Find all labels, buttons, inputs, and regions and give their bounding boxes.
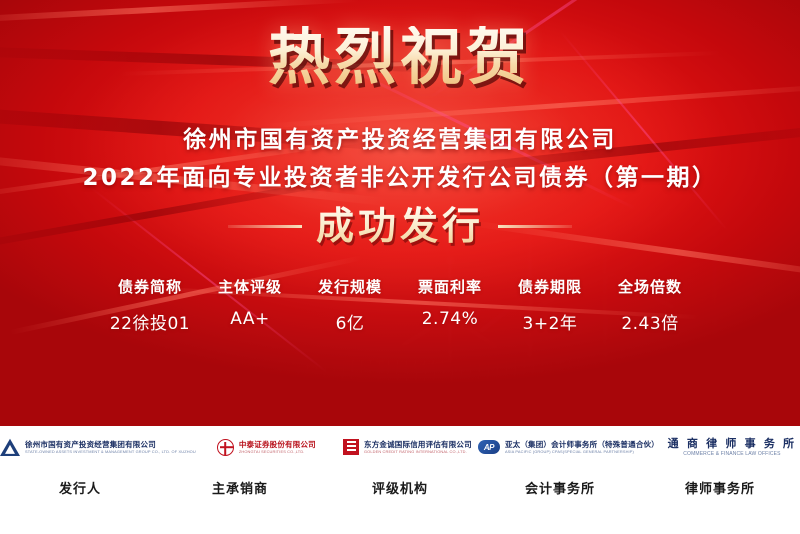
bond-stats-table: 债券简称 主体评级 发行规模 票面利率 债券期限 全场倍数 22徐投01 AA+… (100, 276, 700, 334)
partner-logo-accounting-firm: AP 亚太（集团）会计师事务所（特殊普通合伙） Asia Pacific (Gr… (478, 434, 659, 460)
partner-logo-law-firm: 通 商 律 师 事 务 所 Commerce & Finance Law Off… (659, 434, 800, 460)
success-label: 成功发行 (316, 206, 484, 248)
role-cell: 主承销商 (160, 478, 320, 498)
partner-name-cn: 通 商 律 师 事 务 所 (668, 437, 797, 451)
partner-role-label: 评级机构 (372, 482, 428, 497)
ap-badge-icon: AP (478, 440, 500, 454)
role-cell: 评级机构 (320, 478, 480, 498)
stat-header: 发行规模 (300, 276, 400, 297)
stat-value: AA+ (200, 309, 300, 334)
partner-name-cn: 东方金诚国际信用评估有限公司 (364, 440, 472, 449)
partner-role-label: 主承销商 (212, 482, 268, 497)
partner-logo-underwriter: 中泰证券股份有限公司 ZHONGTAI SECURITIES CO.,LTD. (196, 434, 337, 460)
bond-description: 2022年面向专业投资者非公开发行公司债券（第一期） (0, 158, 800, 192)
celebration-poster: 热烈祝贺 徐州市国有资产投资经营集团有限公司 2022年面向专业投资者非公开发行… (0, 0, 800, 534)
issuer-name: 徐州市国有资产投资经营集团有限公司 (0, 120, 800, 154)
role-cell: 发行人 (0, 478, 160, 498)
partner-name-en: State-owned Assets Investment & Manageme… (25, 449, 196, 454)
rule-right-icon (498, 225, 572, 228)
stat-value: 2.74% (400, 309, 500, 334)
stat-header: 主体评级 (200, 276, 300, 297)
stat-value: 3+2年 (500, 309, 600, 334)
stat-header: 债券期限 (500, 276, 600, 297)
hero-banner: 热烈祝贺 徐州市国有资产投资经营集团有限公司 2022年面向专业投资者非公开发行… (0, 0, 800, 426)
partner-name-en: GOLDEN CREDIT RATING INTERNATIONAL CO.,L… (364, 449, 472, 454)
hero-text-block: 热烈祝贺 徐州市国有资产投资经营集团有限公司 2022年面向专业投资者非公开发行… (0, 0, 800, 426)
partner-logo-row: 徐州市国有资产投资经营集团有限公司 State-owned Assets Inv… (0, 434, 800, 460)
partner-name-cn: 徐州市国有资产投资经营集团有限公司 (25, 440, 196, 449)
partner-role-label: 律师事务所 (685, 482, 755, 497)
red-book-icon (343, 439, 359, 455)
role-cell: 会计事务所 (480, 478, 640, 498)
partner-logo-issuer: 徐州市国有资产投资经营集团有限公司 State-owned Assets Inv… (0, 434, 196, 460)
partner-name-en: Asia Pacific (Group) CPAs(Special Genera… (505, 449, 659, 454)
success-banner: 成功发行 (0, 206, 800, 248)
partner-name-en: ZHONGTAI SECURITIES CO.,LTD. (239, 449, 316, 454)
stat-value: 6亿 (300, 309, 400, 334)
stat-value: 22徐投01 (100, 309, 200, 334)
stat-header: 票面利率 (400, 276, 500, 297)
red-circle-cross-icon (217, 439, 234, 456)
stat-header: 债券简称 (100, 276, 200, 297)
blue-triangle-icon (0, 438, 20, 456)
partner-footer: 徐州市国有资产投资经营集团有限公司 State-owned Assets Inv… (0, 426, 800, 534)
role-cell: 律师事务所 (640, 478, 800, 498)
partner-role-label: 发行人 (59, 482, 101, 497)
stat-value: 2.43倍 (600, 309, 700, 334)
page-title: 热烈祝贺 (0, 26, 800, 88)
rule-left-icon (228, 225, 302, 228)
partner-role-row: 发行人 主承销商 评级机构 会计事务所 律师事务所 (0, 478, 800, 498)
partner-name-en: Commerce & Finance Law Offices (683, 451, 780, 458)
stat-header: 全场倍数 (600, 276, 700, 297)
partner-role-label: 会计事务所 (525, 482, 595, 497)
partner-name-cn: 中泰证券股份有限公司 (239, 440, 316, 449)
partner-logo-rating-agency: 东方金诚国际信用评估有限公司 GOLDEN CREDIT RATING INTE… (337, 434, 478, 460)
partner-name-cn: 亚太（集团）会计师事务所（特殊普通合伙） (505, 440, 659, 449)
